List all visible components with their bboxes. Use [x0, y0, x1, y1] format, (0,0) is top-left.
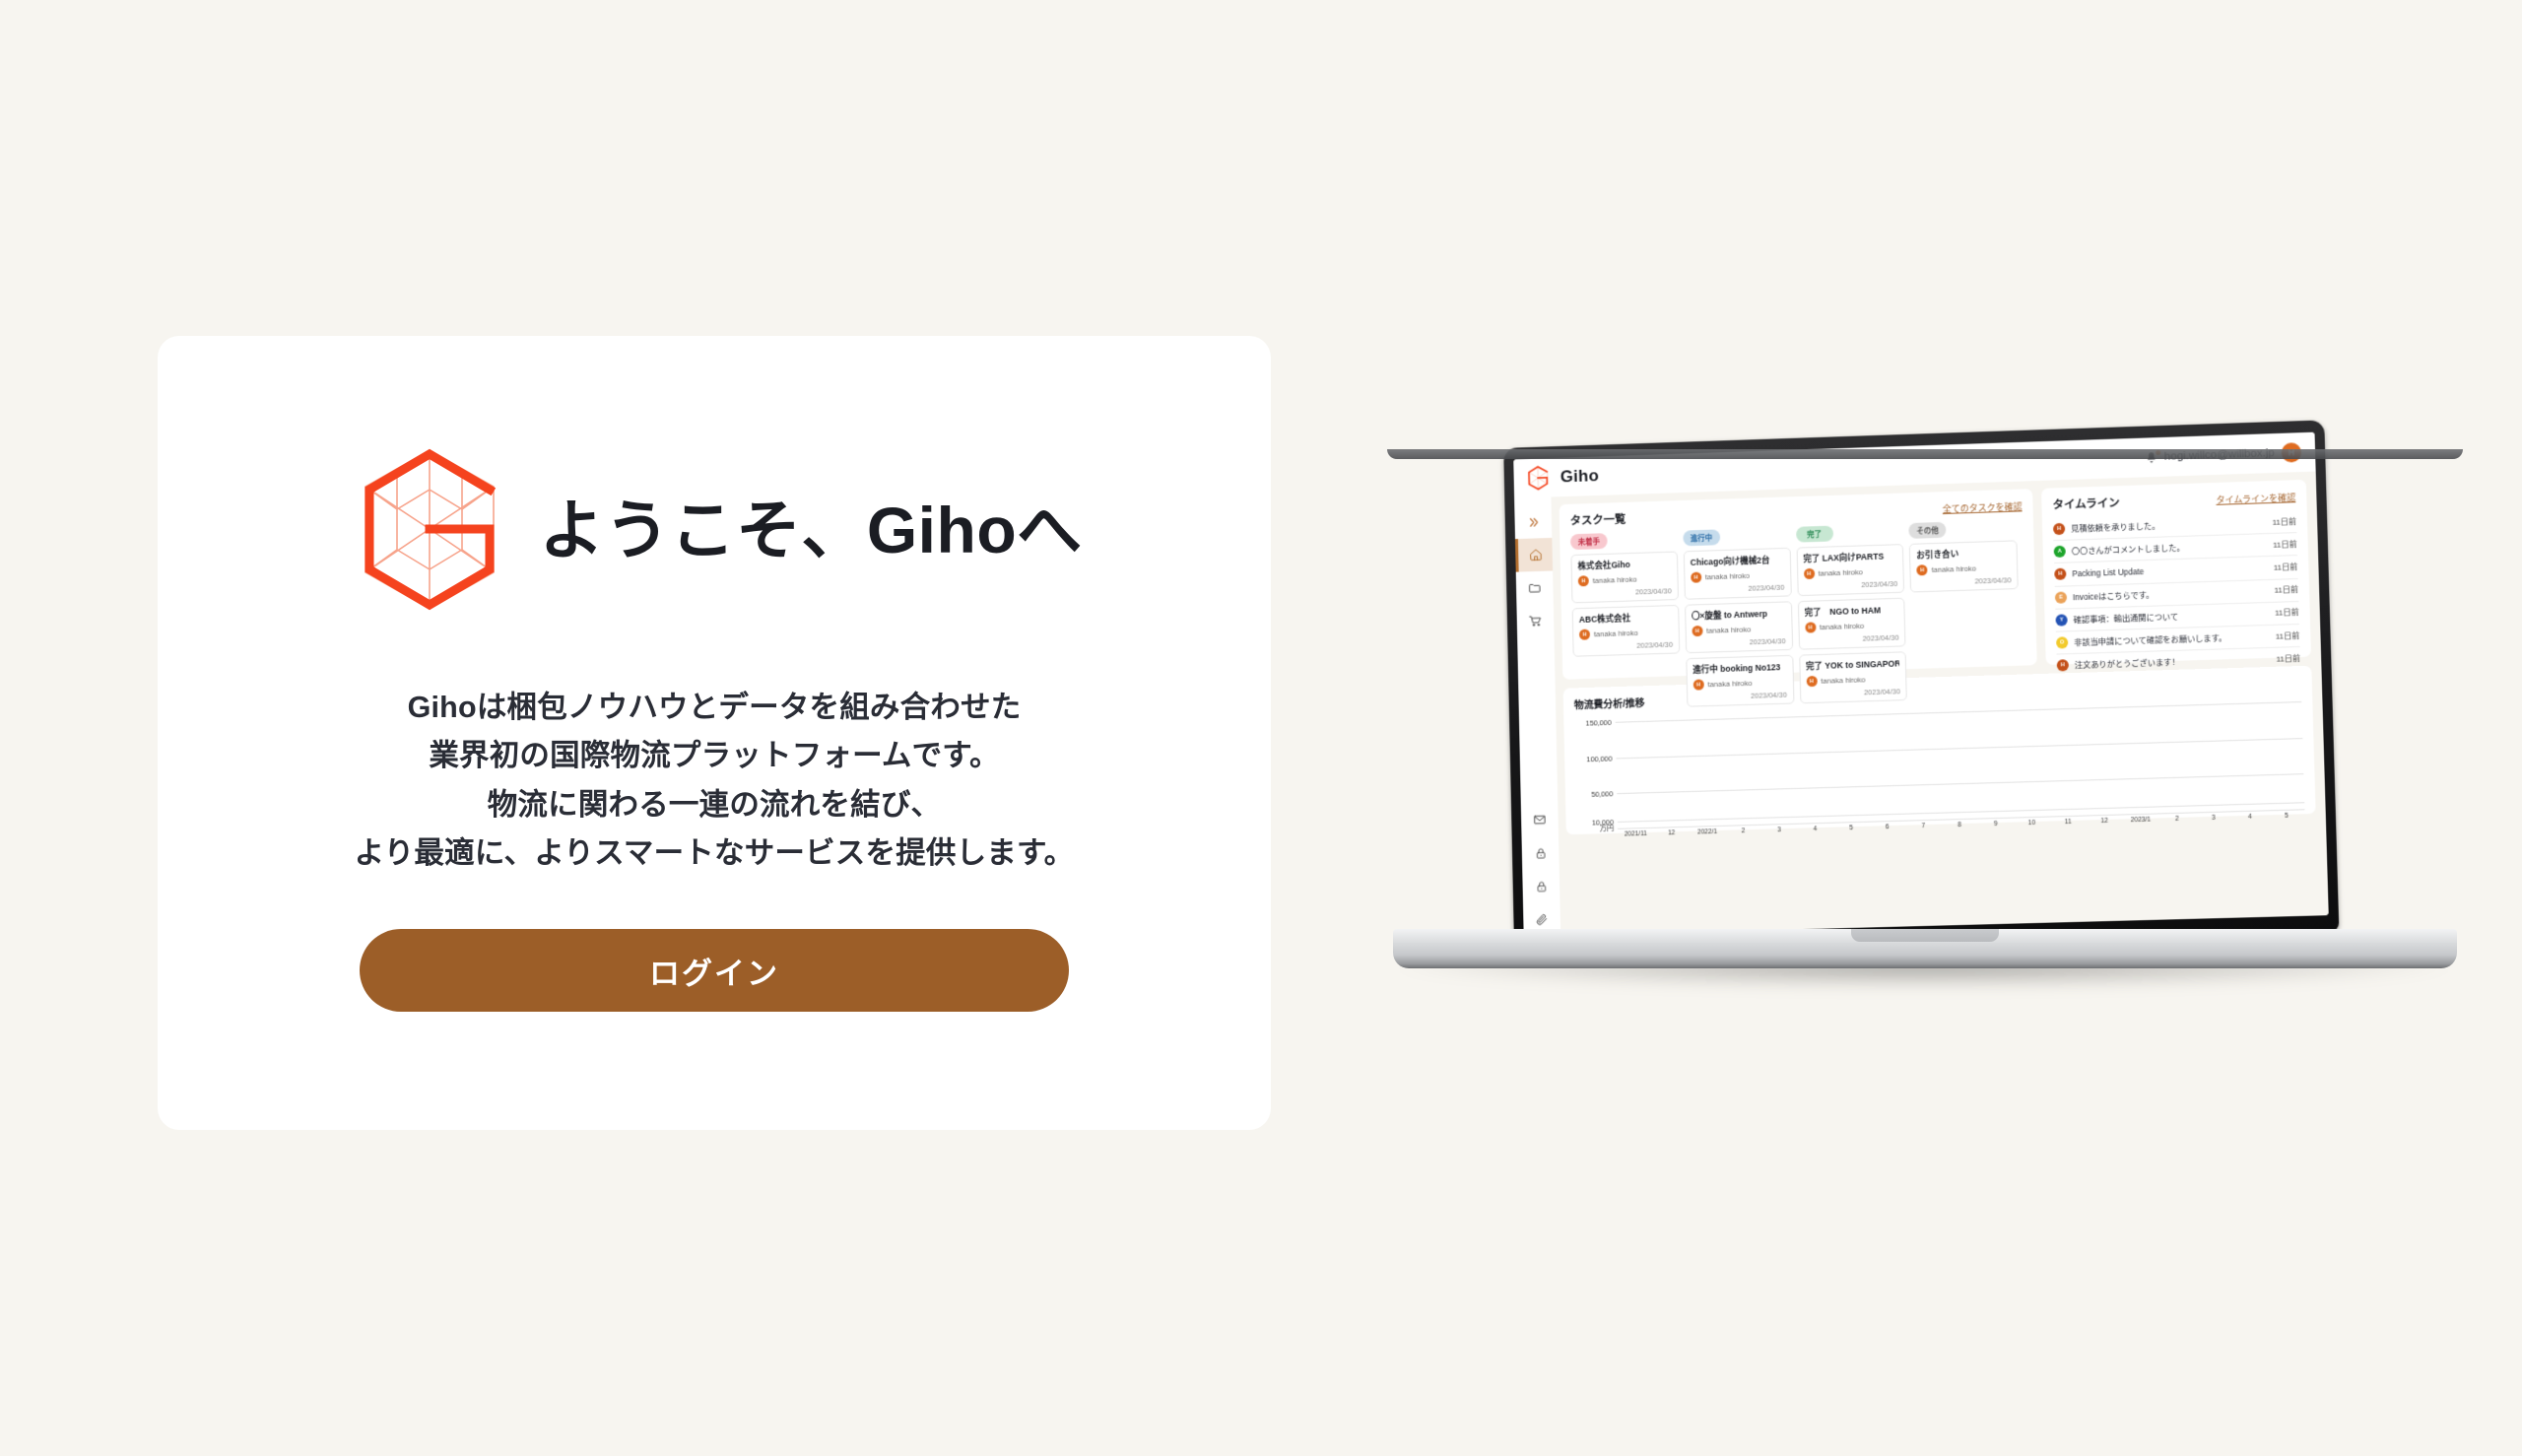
chart-x-tick-label: 2 — [1725, 827, 1761, 835]
home-icon — [1528, 548, 1542, 562]
chart-x-tick-label: 10 — [2014, 820, 2050, 827]
app-name: Giho — [1560, 466, 1600, 487]
task-assignee-name: tanaka hiroko — [1594, 629, 1638, 638]
task-date: 2023/04/30 — [1804, 579, 1897, 591]
task-column: Chicago向け機械2台Htanaka hiroko2023/04/30〇×旋… — [1684, 548, 1800, 712]
task-assignee: Htanaka hiroko — [1692, 623, 1785, 636]
timeline-text: 非該当申請について確認をお願いします。 — [2074, 631, 2226, 648]
chart-x-tick-label: 6 — [1869, 824, 1905, 831]
task-title: 〇×旋盤 to Antwerp — [1692, 607, 1785, 622]
timeline-text: 見積依頼を承りました。 — [2071, 520, 2160, 535]
task-date: 2023/04/30 — [1805, 633, 1898, 645]
laptop-base-foot — [1387, 449, 2463, 459]
status-badge[interactable]: 未着手 — [1570, 533, 1608, 550]
sidebar-item-mail[interactable] — [1521, 803, 1559, 837]
timeline-panel: タイムライン タイムラインを確認 H見積依頼を承りました。11日前A〇〇さんがコ… — [2041, 480, 2311, 665]
task-card[interactable]: 完了 LAX向けPARTSHtanaka hiroko2023/04/30 — [1796, 544, 1904, 596]
giho-dashboard-app: Giho hogi.willco@willbox.jp H — [1513, 432, 2329, 937]
task-columns: 株式会社GihoHtanaka hiroko2023/04/30ABC株式会社H… — [1570, 540, 2026, 715]
timeline-text: Packing List Update — [2072, 567, 2144, 578]
task-column: 完了 LAX向けPARTSHtanaka hiroko2023/04/30完了 … — [1796, 544, 1913, 708]
task-chip-cell: 完了 — [1796, 523, 1909, 543]
avatar: H — [1917, 564, 1928, 575]
chart-x-tick-label: 2022/1 — [1690, 828, 1726, 836]
welcome-description-line: Gihoは梱包ノウハウとデータを組み合わせた — [355, 684, 1075, 732]
task-title: お引き合い — [1916, 547, 2011, 562]
task-date: 2023/04/30 — [1578, 586, 1672, 598]
sidebar-item-folder[interactable] — [1516, 570, 1554, 605]
timeline-time: 11日前 — [2272, 516, 2296, 528]
task-title: 完了 LAX向けPARTS — [1803, 550, 1896, 564]
chart-y-tick-label: 100,000 — [1586, 754, 1612, 763]
task-title: 完了 NGO to HAM — [1804, 604, 1897, 619]
timeline-time: 11日前 — [2273, 539, 2297, 551]
sidebar-item-cart[interactable] — [1516, 604, 1554, 638]
welcome-description: Gihoは梱包ノウハウとデータを組み合わせた業界初の国際物流プラットフォームです… — [355, 684, 1075, 879]
laptop-screen: Giho hogi.willco@willbox.jp H — [1513, 432, 2329, 937]
chart-x-tick-label: 5 — [1833, 825, 1870, 832]
chart-x-tick-label: 2023/1 — [2122, 816, 2158, 824]
task-assignee-name: tanaka hiroko — [1932, 564, 1977, 574]
avatar: H — [1805, 622, 1816, 632]
task-chip-cell: その他 — [1909, 519, 2024, 539]
chart-x-tick-label: 4 — [1797, 826, 1833, 833]
chart-x-tick-label: 2 — [2158, 815, 2195, 823]
chart-x-tick-label: 12 — [1653, 829, 1690, 837]
task-assignee: Htanaka hiroko — [1806, 673, 1899, 687]
timeline-title: タイムライン — [2052, 495, 2120, 512]
chart-x-tick-label: 7 — [1905, 823, 1942, 830]
task-assignee-name: tanaka hiroko — [1706, 625, 1751, 634]
brand-row: ようこそ、Gihoへ — [346, 438, 1082, 621]
timeline-text: 注文ありがとうございます！ — [2075, 656, 2180, 671]
task-title: ABC株式会社 — [1579, 611, 1673, 626]
login-button[interactable]: ログイン — [360, 929, 1069, 1012]
task-assignee-name: tanaka hiroko — [1593, 575, 1637, 585]
avatar: Y — [2055, 614, 2067, 626]
avatar: A — [2054, 546, 2066, 558]
task-chip-cell: 未着手 — [1570, 531, 1683, 551]
timeline-text: 確認事項：輸出通関について — [2073, 611, 2178, 626]
task-title: 株式会社Giho — [1577, 558, 1671, 572]
task-assignee-name: tanaka hiroko — [1707, 679, 1752, 689]
task-assignee-name: tanaka hiroko — [1818, 567, 1862, 577]
status-badge[interactable]: その他 — [1909, 522, 1947, 539]
avatar: H — [2054, 568, 2066, 580]
welcome-description-line: より最適に、よりスマートなサービスを提供します。 — [355, 829, 1075, 878]
task-card[interactable]: 株式会社GihoHtanaka hiroko2023/04/30 — [1570, 552, 1678, 604]
avatar: O — [2056, 636, 2068, 648]
laptop-base — [1393, 929, 2457, 968]
welcome-card: ようこそ、Gihoへ Gihoは梱包ノウハウとデータを組み合わせた業界初の国際物… — [158, 336, 1271, 1130]
chart-y-axis: 150,000100,00050,00010,000万円 — [1574, 715, 1618, 829]
task-card[interactable]: Chicago向け機械2台Htanaka hiroko2023/04/30 — [1684, 548, 1792, 600]
tasks-title: タスク一覧 — [1569, 511, 1626, 529]
welcome-description-line: 業界初の国際物流プラットフォームです。 — [355, 732, 1075, 780]
timeline-time: 11日前 — [2276, 630, 2300, 642]
task-assignee-name: tanaka hiroko — [1705, 571, 1750, 581]
chart-x-tick-label: 3 — [2195, 814, 2231, 822]
task-assignee-name: tanaka hiroko — [1820, 622, 1865, 631]
task-assignee: Htanaka hiroko — [1578, 573, 1672, 587]
timeline-list: H見積依頼を承りました。11日前A〇〇さんがコメントしました。11日前HPack… — [2053, 510, 2300, 677]
chart-x-tick-label: 4 — [2231, 813, 2268, 821]
task-assignee: Htanaka hiroko — [1692, 677, 1786, 691]
chart-x-tick-label: 5 — [2268, 812, 2304, 820]
chart-x-tick-label: 3 — [1761, 827, 1798, 834]
app-main: タスク一覧 全てのタスクを確認 未着手進行中完了その他 株式会社GihoHtan… — [1551, 472, 2328, 936]
laptop-lid: Giho hogi.willco@willbox.jp H — [1503, 420, 2339, 953]
mail-icon — [1533, 813, 1547, 827]
task-card[interactable]: 進行中 booking No123Htanaka hiroko2023/04/3… — [1686, 655, 1794, 707]
task-card[interactable]: 完了 YOK to SINGAPOREHtanaka hiroko2023/04… — [1799, 651, 1907, 703]
sidebar-item-expand-sidebar[interactable] — [1514, 504, 1552, 539]
avatar: H — [2057, 659, 2069, 671]
avatar: H — [1692, 626, 1702, 636]
timeline-text: 〇〇さんがコメントしました。 — [2072, 542, 2185, 558]
avatar: E — [2055, 591, 2067, 603]
laptop-mockup: Giho hogi.willco@willbox.jp H — [1358, 412, 2490, 1042]
task-chip-cell: 進行中 — [1683, 527, 1796, 547]
chart-x-tick-label: 9 — [1977, 821, 2014, 828]
folder-icon — [1528, 581, 1542, 595]
timeline-text: Invoiceはこちらです。 — [2073, 588, 2155, 603]
task-date: 2023/04/30 — [1917, 575, 2012, 587]
view-timeline-link[interactable]: タイムラインを確認 — [2216, 491, 2295, 506]
task-assignee: Htanaka hiroko — [1805, 620, 1898, 633]
task-title: 完了 YOK to SINGAPORE — [1806, 657, 1899, 672]
status-badge[interactable]: 進行中 — [1683, 529, 1720, 546]
task-assignee-name: tanaka hiroko — [1821, 675, 1866, 685]
avatar: H — [1579, 629, 1590, 640]
timeline-time: 11日前 — [2274, 584, 2298, 596]
task-assignee: Htanaka hiroko — [1691, 569, 1784, 583]
chart-x-tick-label: 12 — [2087, 817, 2123, 825]
task-card[interactable]: 完了 NGO to HAMHtanaka hiroko2023/04/30 — [1797, 598, 1905, 650]
chart-bars — [1615, 695, 2304, 828]
task-assignee: Htanaka hiroko — [1917, 562, 2012, 575]
shopping-cart-icon — [1528, 614, 1542, 628]
chart-y-axis-unit: 万円 — [1600, 824, 1615, 833]
status-badge[interactable]: 完了 — [1796, 526, 1833, 543]
task-column: お引き合いHtanaka hiroko2023/04/30 — [1909, 540, 2027, 705]
task-card[interactable]: ABC株式会社Htanaka hiroko2023/04/30 — [1572, 605, 1680, 657]
task-date: 2023/04/30 — [1579, 640, 1673, 652]
avatar: H — [1806, 676, 1817, 687]
task-assignee: Htanaka hiroko — [1579, 627, 1673, 640]
task-date: 2023/04/30 — [1693, 691, 1787, 702]
view-all-tasks-link[interactable]: 全てのタスクを確認 — [1943, 499, 2023, 515]
chart-x-tick-label: 8 — [1942, 822, 1978, 829]
avatar: H — [1578, 575, 1589, 586]
giho-hex-cube-logo-icon — [1525, 464, 1551, 492]
task-date: 2023/04/30 — [1692, 636, 1786, 648]
avatar: H — [1692, 679, 1703, 690]
chart-x-tick-label: 11 — [2050, 819, 2087, 827]
giho-hex-cube-logo-icon — [346, 438, 513, 621]
welcome-description-line: 物流に関わる一連の流れを結び、 — [355, 781, 1075, 829]
lock-icon — [1535, 880, 1548, 893]
task-title: Chicago向け機械2台 — [1691, 554, 1784, 568]
paperclip-icon — [1535, 912, 1549, 926]
chart-x-tick-label: 2021/11 — [1618, 830, 1653, 838]
timeline-time: 11日前 — [2274, 562, 2298, 573]
sidebar-item-lock-1[interactable] — [1522, 835, 1560, 870]
avatar: H — [1804, 568, 1815, 579]
page-title: ようこそ、Gihoへ — [539, 497, 1082, 563]
sidebar-spacer — [1536, 637, 1540, 803]
tasks-panel: タスク一覧 全てのタスクを確認 未着手進行中完了その他 株式会社GihoHtan… — [1559, 489, 2036, 680]
avatar: H — [2053, 523, 2065, 535]
task-title: 進行中 booking No123 — [1692, 661, 1786, 676]
task-date: 2023/04/30 — [1807, 687, 1900, 698]
timeline-time: 11日前 — [2276, 653, 2300, 665]
chevron-double-right-icon — [1527, 515, 1540, 528]
task-date: 2023/04/30 — [1691, 583, 1784, 595]
timeline-time: 11日前 — [2275, 607, 2299, 619]
sidebar-item-lock-2[interactable] — [1522, 869, 1560, 903]
chart-y-tick-label: 50,000 — [1591, 789, 1613, 799]
chart-y-tick-label: 150,000 — [1586, 718, 1612, 728]
task-assignee: Htanaka hiroko — [1804, 565, 1897, 579]
task-card[interactable]: お引き合いHtanaka hiroko2023/04/30 — [1909, 540, 2019, 592]
lock-icon — [1534, 846, 1547, 859]
task-column: 株式会社GihoHtanaka hiroko2023/04/30ABC株式会社H… — [1570, 551, 1687, 715]
chart-plot-area — [1615, 695, 2304, 828]
avatar: H — [1691, 572, 1701, 583]
task-card[interactable]: 〇×旋盤 to AntwerpHtanaka hiroko2023/04/30 — [1685, 601, 1793, 653]
app-body: タスク一覧 全てのタスクを確認 未着手進行中完了その他 株式会社GihoHtan… — [1514, 472, 2329, 937]
sidebar-item-home[interactable] — [1515, 538, 1553, 572]
